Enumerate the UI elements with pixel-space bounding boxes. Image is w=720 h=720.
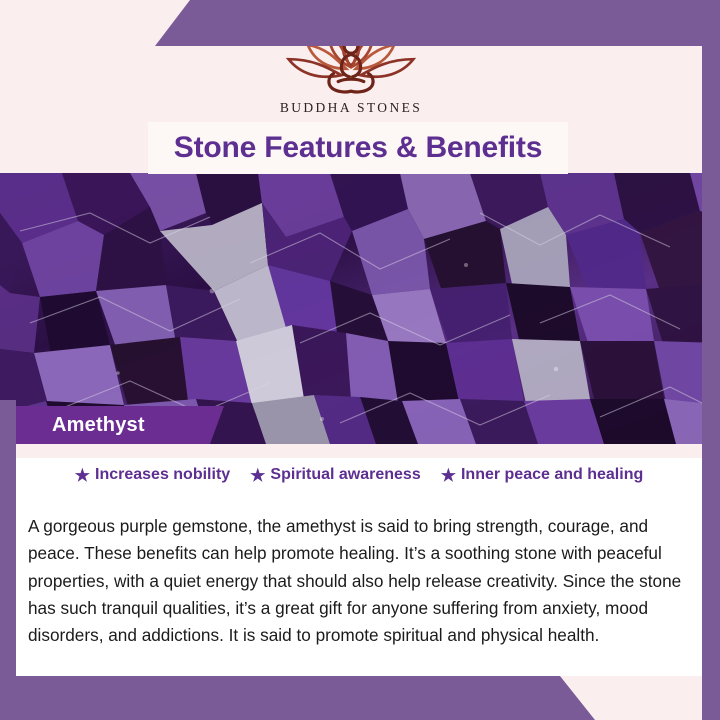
stone-name-banner: Amethyst [0,406,224,444]
star-icon: ★ [75,467,90,484]
decorative-right-band [702,0,720,720]
benefit-label: Spiritual awareness [270,466,420,484]
stone-photo [0,173,720,444]
star-icon: ★ [250,467,265,484]
stone-description: A gorgeous purple gemstone, the amethyst… [28,513,688,649]
brand-name: BUDDHA STONES [280,100,422,116]
benefit-item-1: ★ Increases nobility [75,466,230,484]
benefit-label: Increases nobility [95,466,230,484]
page-title-box: Stone Features & Benefits [148,122,568,174]
decorative-bottom-band [0,676,720,720]
content-top-strip [16,444,702,458]
benefits-list: ★ Increases nobility ★ Spiritual awarene… [16,466,702,484]
benefit-item-3: ★ Inner peace and healing [441,466,644,484]
star-icon: ★ [441,467,456,484]
page-title: Stone Features & Benefits [174,131,542,165]
decorative-left-band [0,400,16,720]
stone-content-panel: ★ Increases nobility ★ Spiritual awarene… [16,444,702,676]
benefit-label: Inner peace and healing [461,466,643,484]
product-feature-card: BUDDHA STONES Stone Features & Benefits [0,0,720,720]
stone-name: Amethyst [52,414,145,437]
benefit-item-2: ★ Spiritual awareness [250,466,421,484]
